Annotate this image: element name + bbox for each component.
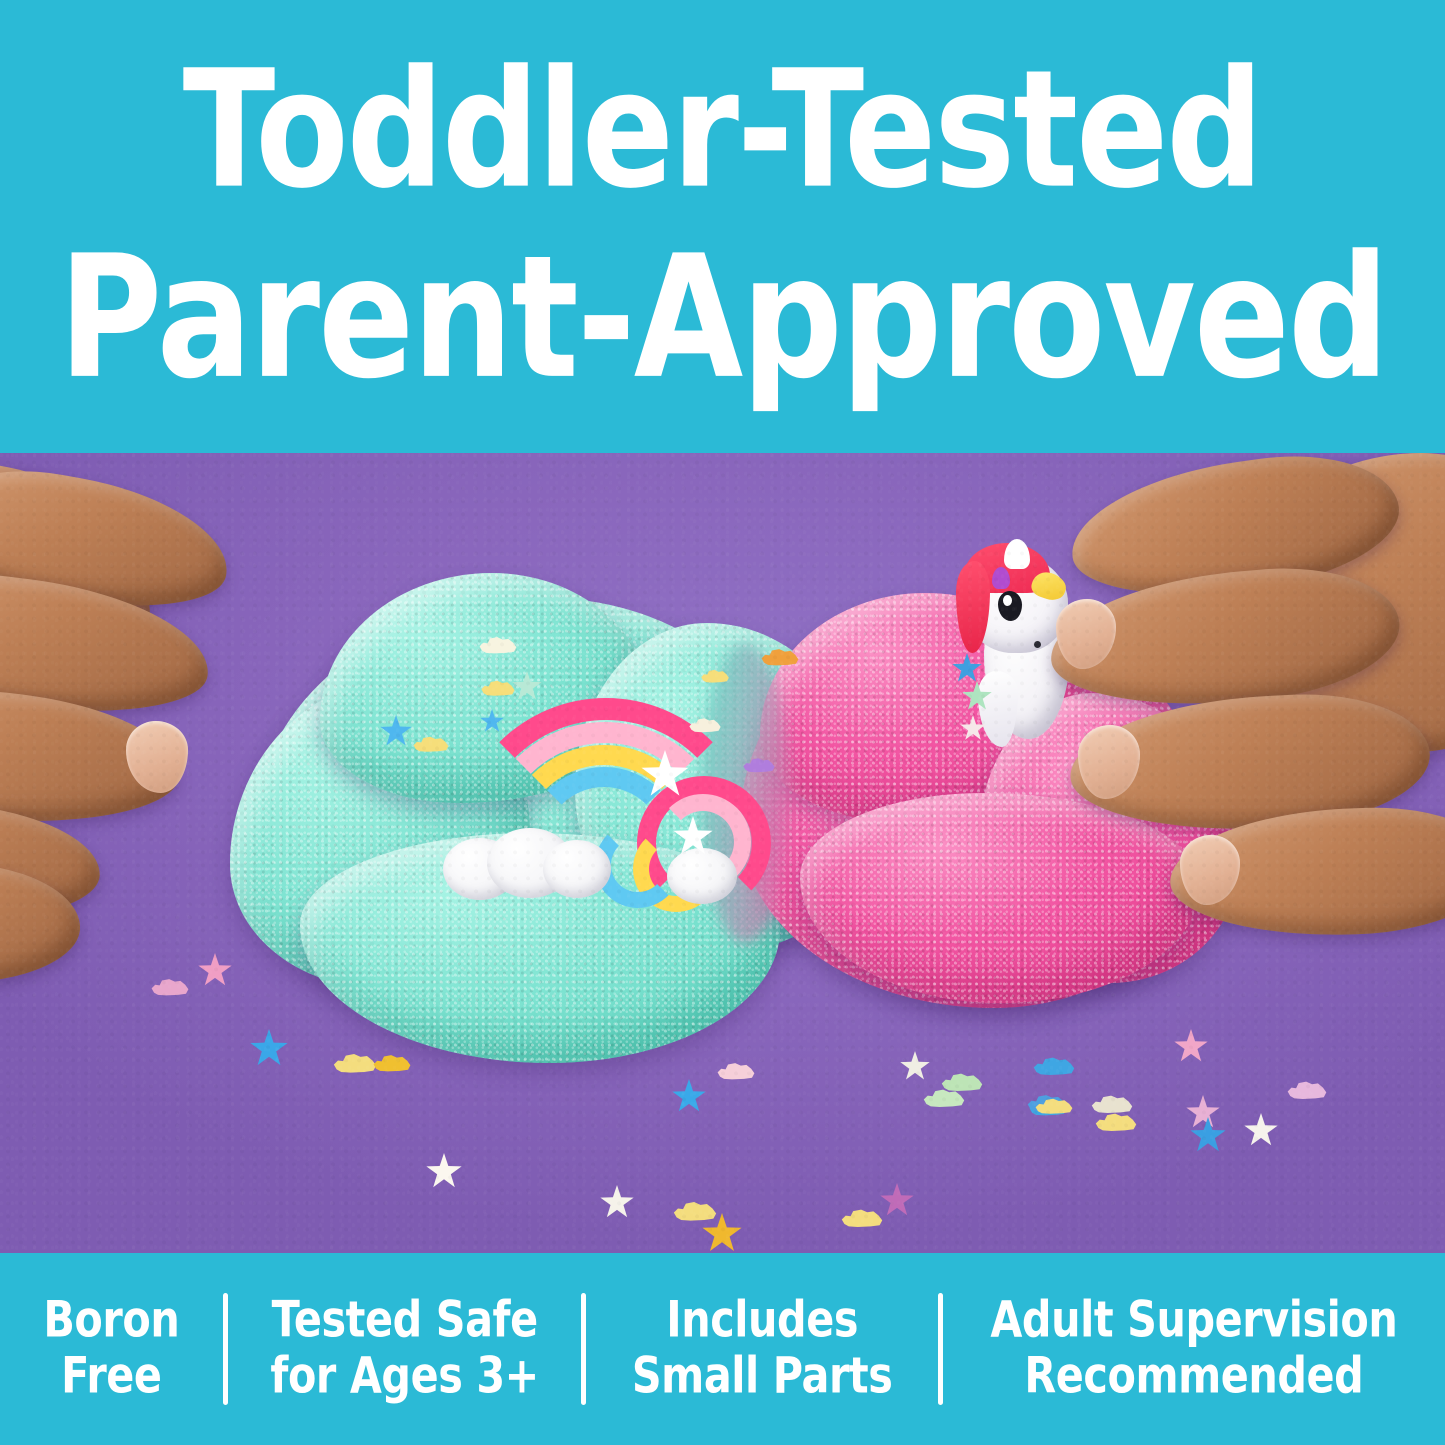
feature-divider-1 [223,1293,228,1405]
confetti-star-1 [198,953,232,987]
confetti-cloud-3 [716,1057,756,1085]
confetti-star-11 [1244,1113,1278,1147]
feature-divider-3 [938,1293,943,1405]
unicorn-leg [978,671,1018,747]
confetti-cloud-1 [332,1047,378,1079]
feature-boron-free: Boron Free [13,1293,209,1405]
confetti-star-6 [672,1079,706,1113]
confetti-star-7 [880,1183,914,1217]
feature-tested-safe: Tested Safe for Ages 3+ [249,1293,560,1405]
rainbow-cloud-left-c [543,840,611,898]
headline-line-1: Toddler-Tested [183,43,1262,218]
feature-divider-2 [581,1293,586,1405]
unicorn-inner-ear [992,567,1010,589]
unicorn-ear [1004,539,1030,569]
confetti-cloud-12 [1286,1075,1328,1105]
confetti-cloud-6 [1032,1051,1076,1081]
confetti-cloud-15 [150,973,190,1001]
rainbow-cloud-right [667,848,737,904]
confetti-star-4 [600,1185,634,1219]
confetti-star-8 [1174,1029,1208,1063]
feature-banner: Boron Free Tested Safe for Ages 3+ Inclu… [0,1253,1445,1445]
confetti-cloud-2 [672,1195,718,1227]
confetti-star-2 [250,1029,288,1067]
confetti-cloud-14 [372,1049,412,1077]
confetti-cloud-4 [840,1203,884,1233]
feature-adult-supervision: Adult Supervision Recommended [973,1293,1415,1405]
right-child-hand [1040,453,1445,923]
confetti-star-9 [1186,1095,1220,1129]
unicorn-eye-highlight [1003,595,1012,606]
headline-line-2: Parent-Approved [58,228,1387,411]
confetti-star-3 [426,1153,462,1189]
left-child-hand [0,453,330,923]
product-marketing-image: Toddler-Tested Parent-Approved [0,0,1445,1445]
product-photo [0,453,1445,1253]
feature-small-parts: Includes Small Parts [607,1293,917,1405]
confetti-star-12 [900,1051,930,1081]
header-banner: Toddler-Tested Parent-Approved [0,0,1445,453]
